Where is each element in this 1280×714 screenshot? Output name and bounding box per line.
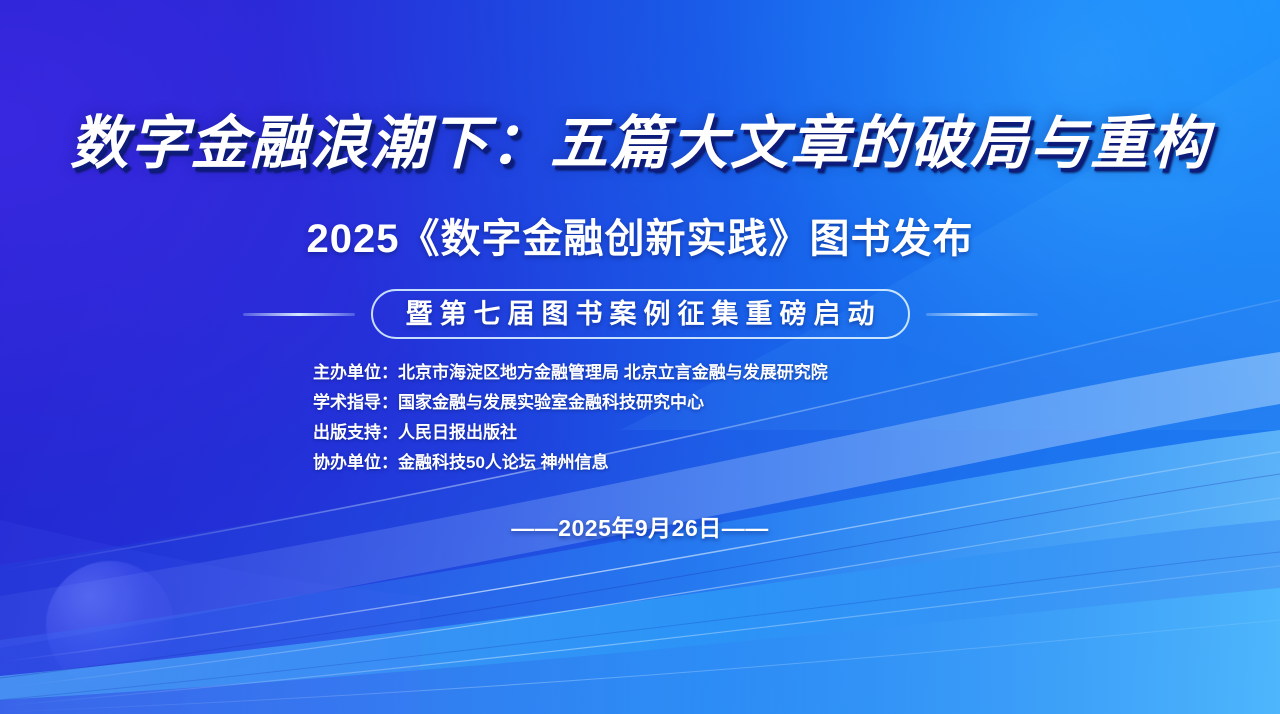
- banner-rule-right: [926, 313, 1038, 316]
- credits-block: 主办单位：北京市海淀区地方金融管理局 北京立言金融与发展研究院 学术指导：国家金…: [313, 358, 1073, 478]
- banner-rule-left: [243, 313, 355, 316]
- credit-line-publisher: 出版支持：人民日报出版社: [313, 418, 1073, 448]
- poster-content: 数字金融浪潮下：五篇大文章的破局与重构 2025《数字金融创新实践》图书发布 暨…: [0, 0, 1280, 714]
- event-date: ——2025年9月26日——: [511, 512, 769, 544]
- poster-canvas: 数字金融浪潮下：五篇大文章的破局与重构 2025《数字金融创新实践》图书发布 暨…: [0, 0, 1280, 714]
- credit-line-organizer: 主办单位：北京市海淀区地方金融管理局 北京立言金融与发展研究院: [313, 358, 1073, 388]
- banner-pill: 暨第七届图书案例征集重磅启动: [371, 289, 910, 339]
- banner-row: 暨第七届图书案例征集重磅启动: [0, 288, 1280, 340]
- date-row: ——2025年9月26日——: [0, 512, 1280, 544]
- page-subtitle: 2025《数字金融创新实践》图书发布: [0, 214, 1280, 264]
- credit-line-cohost: 协办单位：金融科技50人论坛 神州信息: [313, 448, 1073, 478]
- page-title: 数字金融浪潮下：五篇大文章的破局与重构: [0, 107, 1280, 179]
- banner-label: 暨第七届图书案例征集重磅启动: [399, 301, 882, 328]
- credit-line-academic: 学术指导：国家金融与发展实验室金融科技研究中心: [313, 388, 1073, 418]
